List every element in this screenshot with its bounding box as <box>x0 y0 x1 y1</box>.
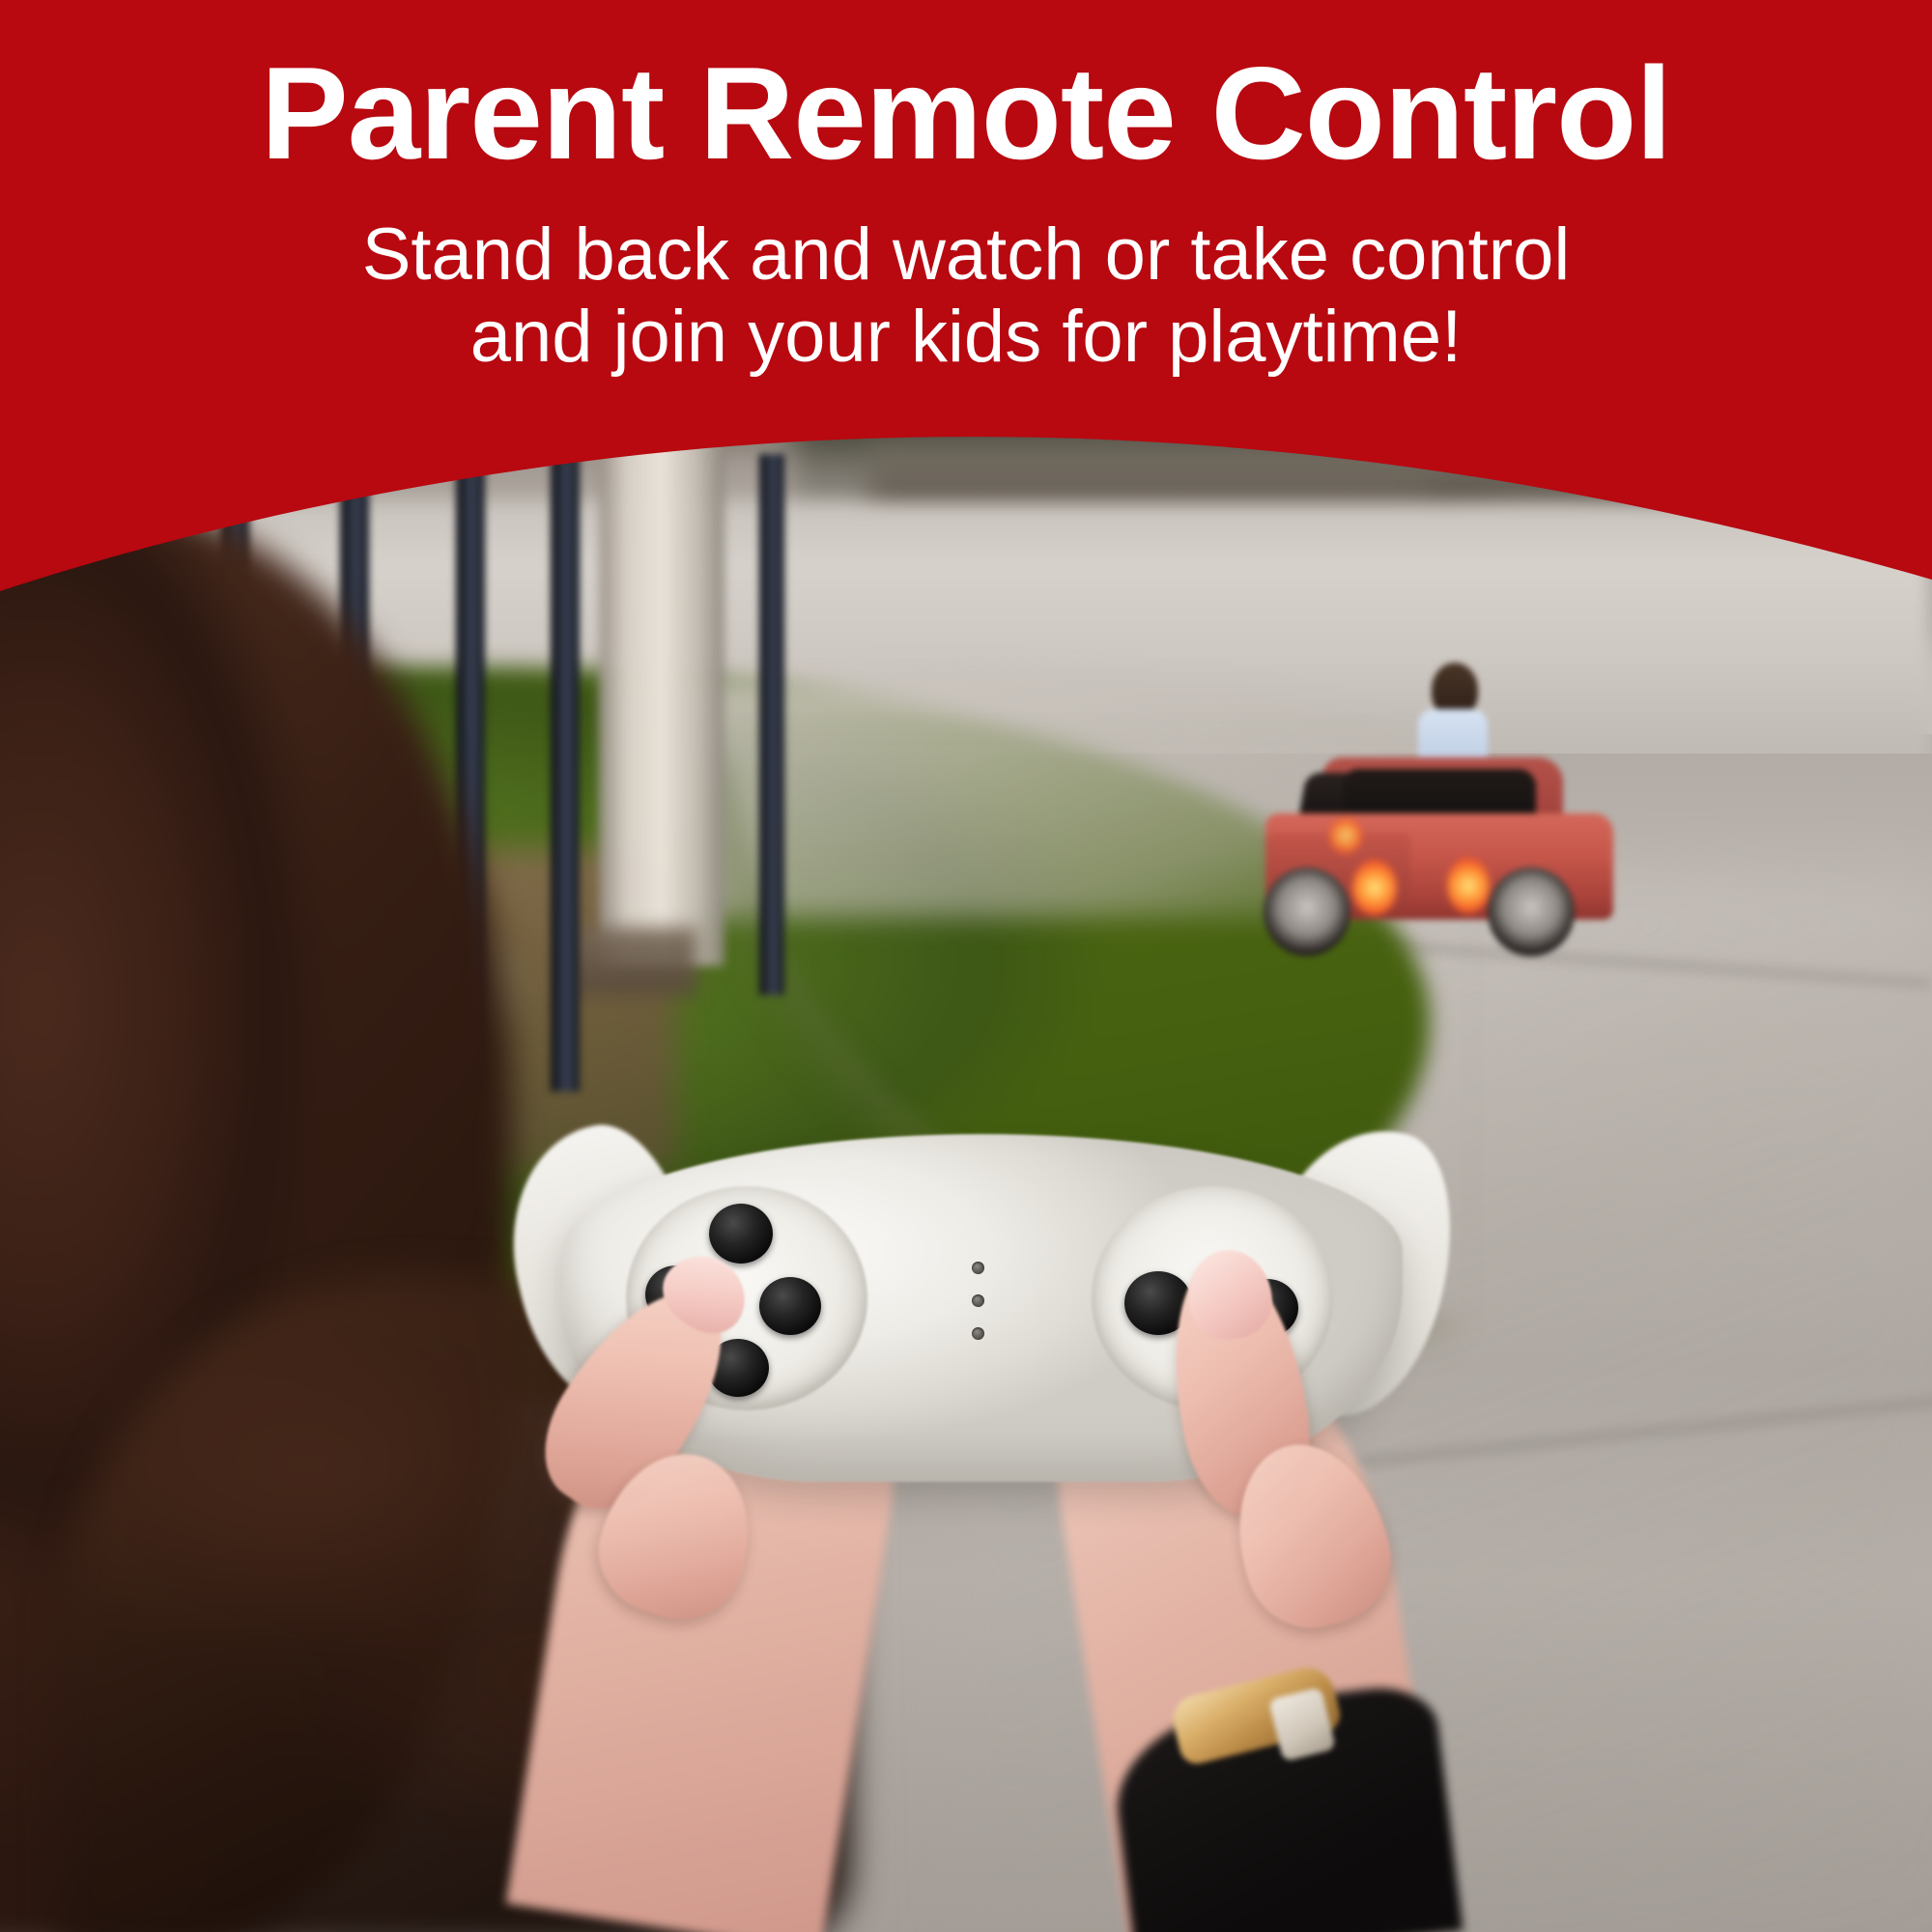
truck-wheel <box>1488 867 1575 956</box>
remote-button-up[interactable] <box>709 1204 773 1264</box>
remote-led <box>972 1294 984 1307</box>
fence-bar <box>759 454 784 995</box>
page-title: Parent Remote Control <box>0 0 1932 181</box>
remote-button-right[interactable] <box>759 1277 821 1335</box>
parent-hands <box>541 1101 1430 1932</box>
porch-column-base <box>572 927 697 995</box>
remote-led <box>972 1327 984 1340</box>
remote-led <box>972 1262 984 1274</box>
banner-subtitle: Stand back and watch or take control and… <box>0 181 1932 378</box>
banner-text-block: Parent Remote Control Stand back and wat… <box>0 0 1932 378</box>
truck-taillight <box>1447 858 1490 914</box>
product-feature-image: Parent Remote Control Stand back and wat… <box>0 0 1932 1932</box>
ride-on-toy-truck <box>1246 744 1633 956</box>
parent-remote-control[interactable] <box>562 1134 1403 1520</box>
remote-indicator-leds <box>968 1262 989 1378</box>
truck-taillight <box>1352 860 1397 916</box>
truck-marker-light <box>1329 817 1362 854</box>
porch-column <box>599 425 724 966</box>
truck-wheel <box>1264 867 1350 956</box>
banner-subtitle-line-2: and join your kids for playtime! <box>0 296 1932 378</box>
fence-bar <box>551 415 580 1092</box>
banner-subtitle-line-1: Stand back and watch or take control <box>0 213 1932 296</box>
